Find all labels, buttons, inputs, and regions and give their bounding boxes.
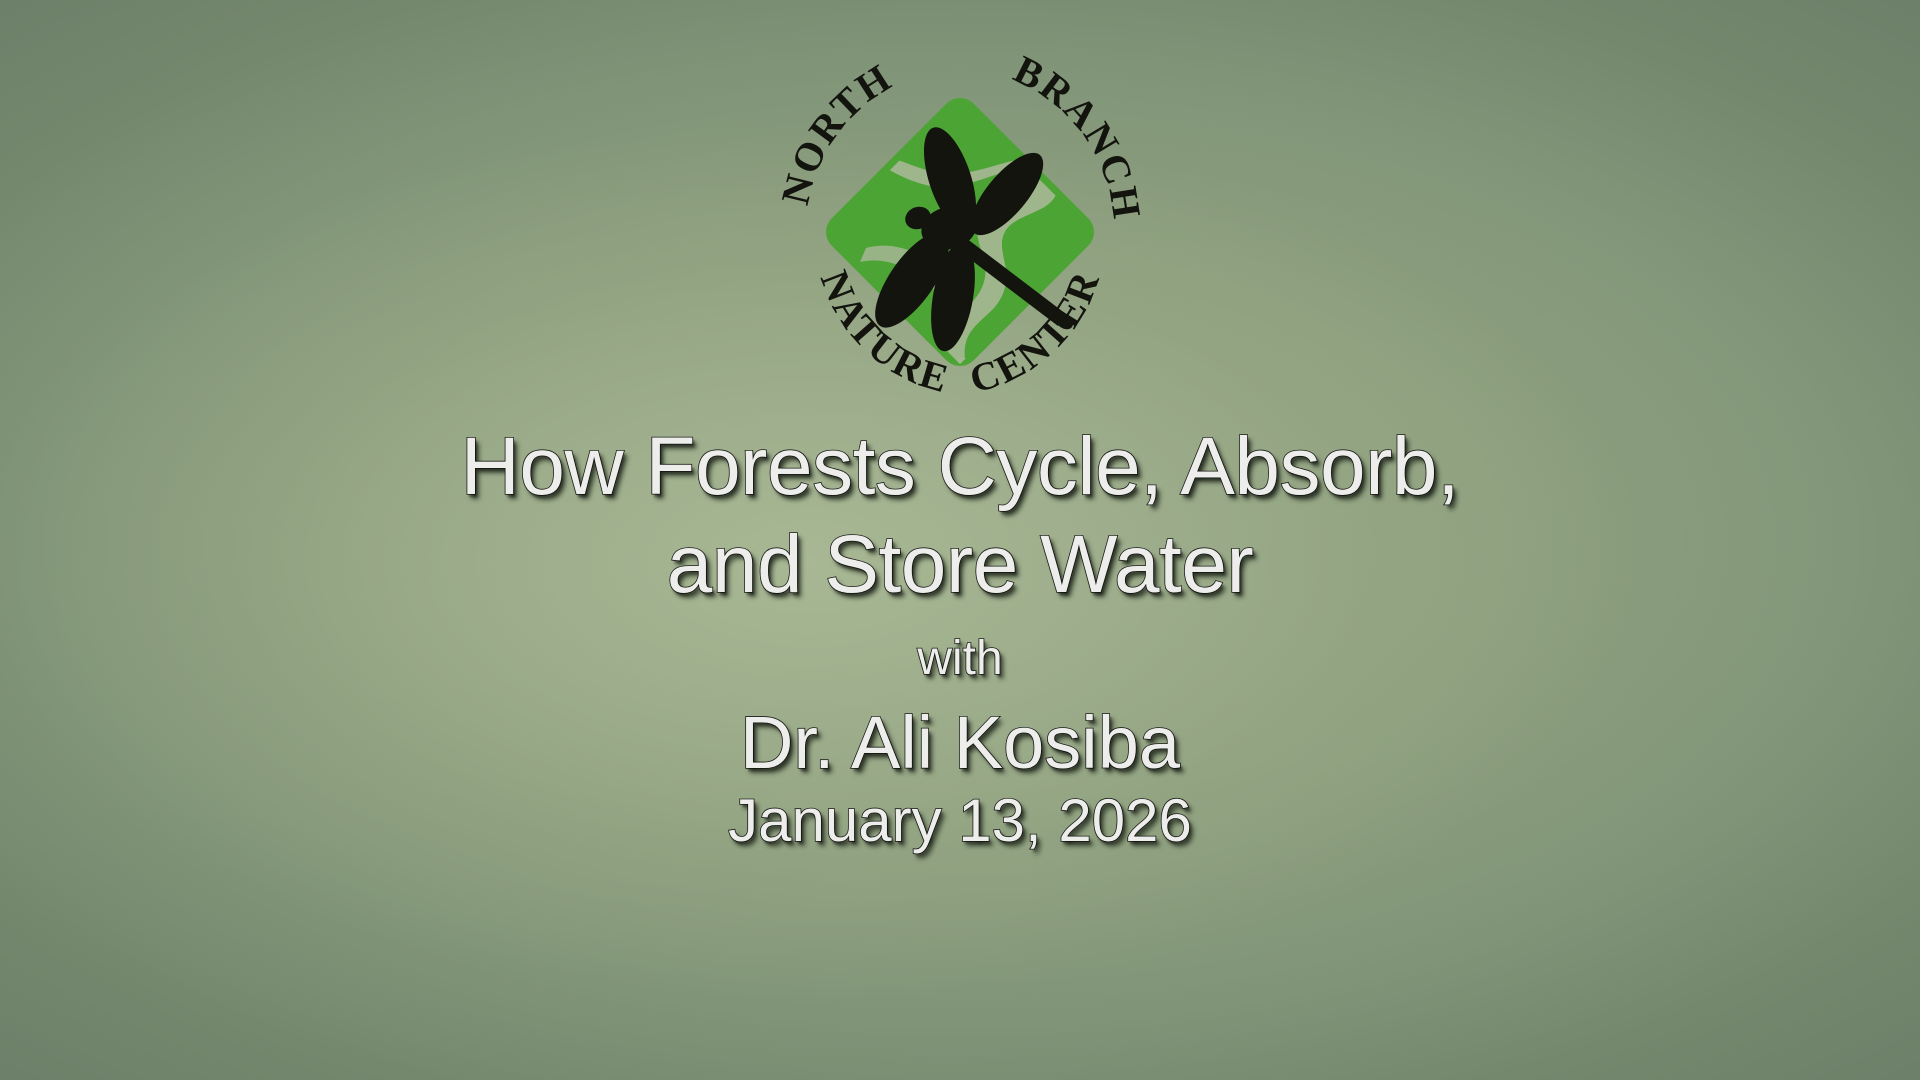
event-date: January 13, 2026 [0,784,1920,858]
title-slide: NORTH BRANCH NATURE CENTER How Forests C… [0,0,1920,1080]
slide-text-block: How Forests Cycle, Absorb, and Store Wat… [0,418,1920,858]
with-label: with [0,624,1920,694]
title-line-2: and Store Water [0,516,1920,614]
logo: NORTH BRANCH NATURE CENTER [770,42,1150,414]
page-title: How Forests Cycle, Absorb, and Store Wat… [0,418,1920,614]
title-line-1: How Forests Cycle, Absorb, [0,418,1920,516]
presenter-name: Dr. Ali Kosiba [0,698,1920,788]
